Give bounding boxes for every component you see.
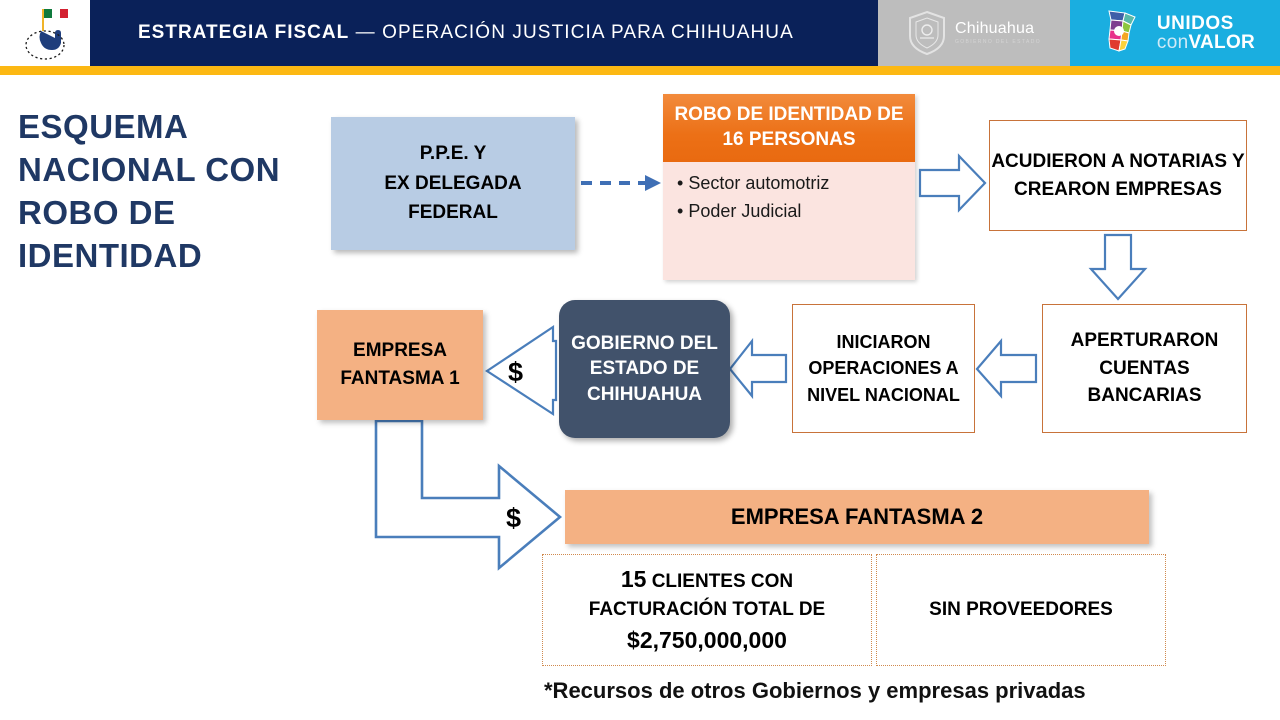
box-robo-bullet-list: Sector automotriz Poder Judicial <box>663 162 915 225</box>
clientes-line2: FACTURACIÓN TOTAL DE <box>589 599 825 620</box>
box-acudieron-notarias[interactable]: ACUDIERON A NOTARIAS Y CREARON EMPRESAS <box>989 120 1247 231</box>
box-clientes-facturacion[interactable]: 15 CLIENTES CON FACTURACIÓN TOTAL DE $2,… <box>542 554 872 666</box>
header-yellow-rule <box>0 66 1280 75</box>
box-empresa-fantasma-1-label: EMPRESA FANTASMA 1 <box>317 337 483 394</box>
box-gobierno-estado-chihuahua[interactable]: GOBIERNO DEL ESTADO DE CHIHUAHUA <box>559 300 730 438</box>
dashed-arrow-ppe-to-robo <box>581 175 661 191</box>
box-empresa-fantasma-2-label: EMPRESA FANTASMA 2 <box>731 504 983 530</box>
clientes-amount: $2,750,000,000 <box>627 627 787 653</box>
header-title-sep: — <box>349 22 382 43</box>
header-title-bold: ESTRATEGIA FISCAL <box>138 22 349 43</box>
box-ppe-label: P.P.E. Y EX DELEGADA FEDERAL <box>384 139 521 227</box>
chihuahua-map-icon <box>1095 7 1147 59</box>
block-arrow-aperturaron-to-iniciaron <box>977 341 1036 396</box>
box-aperturaron-label: APERTURARON CUENTAS BANCARIAS <box>1043 327 1246 410</box>
box-robo-identidad[interactable]: ROBO DE IDENTIDAD DE 16 PERSONAS Sector … <box>663 94 915 280</box>
unidos-label: UNIDOS <box>1157 14 1255 33</box>
chihuahua-logo-name: Chihuahua <box>955 21 1041 37</box>
chihuahua-logo-block: Chihuahua GOBIERNO DEL ESTADO <box>878 0 1070 66</box>
mexico-government-emblem-icon <box>19 3 71 63</box>
con-label: con <box>1157 32 1189 53</box>
box-gobierno-label: GOBIERNO DEL ESTADO DE CHIHUAHUA <box>559 331 730 406</box>
slide-canvas: ESTRATEGIA FISCAL — OPERACIÓN JUSTICIA P… <box>0 0 1280 720</box>
header-navy-bar: ESTRATEGIA FISCAL — OPERACIÓN JUSTICIA P… <box>90 0 878 66</box>
clientes-count: 15 <box>621 566 647 592</box>
footnote-text: *Recursos de otros Gobiernos y empresas … <box>544 678 1244 704</box>
box-aperturaron-cuentas[interactable]: APERTURARON CUENTAS BANCARIAS <box>1042 304 1247 433</box>
clientes-label: CLIENTES CON <box>646 571 793 592</box>
box-acudieron-label: ACUDIERON A NOTARIAS Y CREARON EMPRESAS <box>990 148 1246 203</box>
header-title: ESTRATEGIA FISCAL — OPERACIÓN JUSTICIA P… <box>138 22 794 44</box>
page-title: ESQUEMA NACIONAL CON ROBO DE IDENTIDAD <box>18 106 318 278</box>
box-ppe-ex-delegada[interactable]: P.P.E. Y EX DELEGADA FEDERAL <box>331 117 575 250</box>
box-iniciaron-operaciones[interactable]: INICIARON OPERACIONES A NIVEL NACIONAL <box>792 304 975 433</box>
block-arrow-iniciaron-to-gobierno <box>730 341 786 396</box>
valor-label: VALOR <box>1188 32 1255 53</box>
money-symbol-ef2: $ <box>506 503 521 534</box>
list-item: Poder Judicial <box>677 198 915 225</box>
chihuahua-logo-tagline: GOBIERNO DEL ESTADO <box>955 40 1041 45</box>
unidos-con-valor-logo-block: UNIDOS conVALOR <box>1070 0 1280 66</box>
box-robo-header: ROBO DE IDENTIDAD DE 16 PERSONAS <box>663 94 915 162</box>
box-empresa-fantasma-2[interactable]: EMPRESA FANTASMA 2 <box>565 490 1149 544</box>
box-empresa-fantasma-1[interactable]: EMPRESA FANTASMA 1 <box>317 310 483 420</box>
bent-block-arrow-money-ef1-to-ef2 <box>376 421 560 568</box>
chihuahua-shield-icon <box>907 10 947 56</box>
government-emblem-area <box>0 0 90 66</box>
block-arrow-acudieron-to-aperturaron <box>1091 235 1145 299</box>
list-item: Sector automotriz <box>677 170 915 197</box>
block-arrow-robo-to-acudieron <box>920 156 985 210</box>
box-sin-proveedores-label: SIN PROVEEDORES <box>929 596 1113 624</box>
box-sin-proveedores[interactable]: SIN PROVEEDORES <box>876 554 1166 666</box>
box-iniciaron-label: INICIARON OPERACIONES A NIVEL NACIONAL <box>793 329 974 407</box>
money-symbol-ef1: $ <box>508 357 523 388</box>
header-title-rest: OPERACIÓN JUSTICIA PARA CHIHUAHUA <box>382 22 794 43</box>
